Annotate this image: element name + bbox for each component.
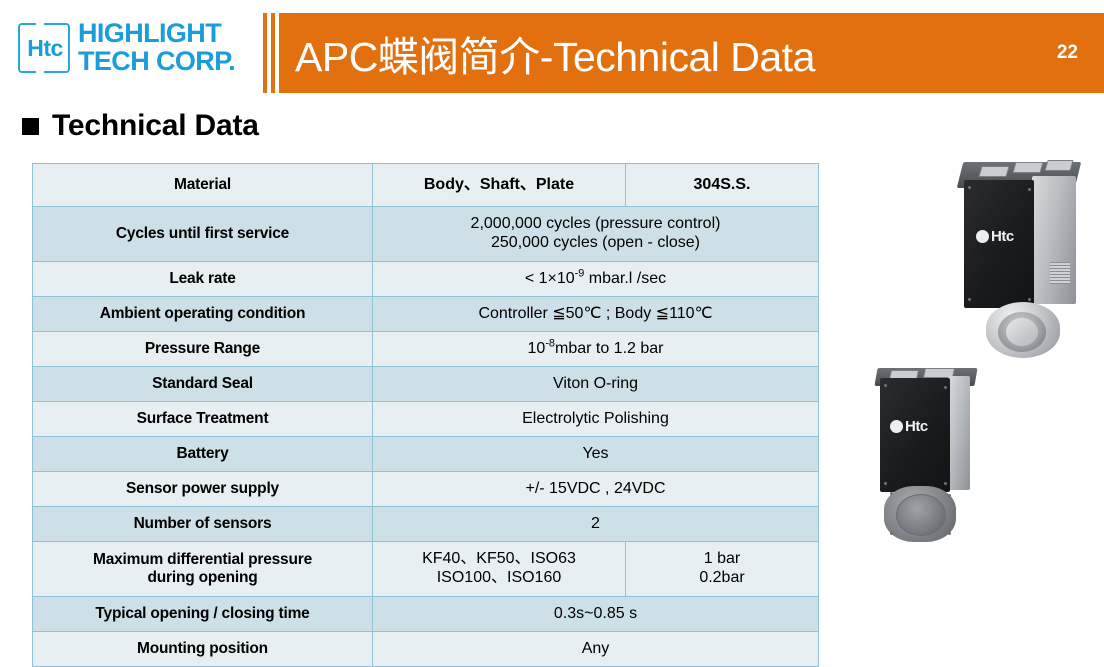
row-label: Leak rate — [33, 262, 373, 297]
row-value-1: KF40、KF50、ISO63 ISO100、ISO160 — [373, 542, 626, 597]
row-value: < 1×10-9 mbar.l /sec — [373, 262, 819, 297]
product-photo-butterfly-valve-kf: Htc — [946, 158, 1096, 368]
row-label: Surface Treatment — [33, 402, 373, 437]
row-value: Controller ≦50℃ ; Body ≦110℃ — [373, 297, 819, 332]
section-heading: Technical Data — [22, 104, 259, 148]
row-value-2-line2: 0.2bar — [630, 569, 814, 588]
square-bullet-icon — [22, 118, 39, 135]
product-badge: Htc — [976, 228, 1014, 245]
row-value-1-line2: ISO100、ISO160 — [377, 569, 621, 588]
row-value: +/- 15VDC , 24VDC — [373, 472, 819, 507]
row-label: Standard Seal — [33, 367, 373, 402]
row-value-1-line1: KF40、KF50、ISO63 — [377, 550, 621, 569]
row-label: Material — [33, 164, 373, 207]
row-value-2: 1 bar 0.2bar — [626, 542, 819, 597]
page-number: 22 — [1057, 42, 1078, 64]
product-photo-butterfly-valve-iso: Htc — [866, 362, 1016, 587]
brand-logo: Htc HIGHLIGHT TECH CORP. — [12, 20, 254, 76]
table-row: Cycles until first service 2,000,000 cyc… — [33, 207, 819, 262]
row-value-2-line1: 1 bar — [630, 550, 814, 569]
section-heading-text: Technical Data — [52, 109, 259, 143]
htc-emblem-icon — [976, 230, 989, 243]
table-row: Typical opening / closing time 0.3s~0.85… — [33, 597, 819, 632]
logo-wordmark-line2: TECH CORP. — [78, 48, 235, 76]
product-badge: Htc — [890, 418, 928, 435]
row-value: Yes — [373, 437, 819, 472]
row-value: Viton O-ring — [373, 367, 819, 402]
product-badge-text: Htc — [905, 418, 928, 435]
row-value: 2 — [373, 507, 819, 542]
row-label-line1: Maximum differential pressure — [37, 551, 368, 569]
table-row: Ambient operating condition Controller ≦… — [33, 297, 819, 332]
table-row: Standard Seal Viton O-ring — [33, 367, 819, 402]
title-bar: APC蝶阀简介-Technical Data 22 — [279, 13, 1104, 93]
table-row: Number of sensors 2 — [33, 507, 819, 542]
row-value: Any — [373, 632, 819, 667]
row-label: Typical opening / closing time — [33, 597, 373, 632]
row-value: 2,000,000 cycles (pressure control) 250,… — [373, 207, 819, 262]
row-value: Electrolytic Polishing — [373, 402, 819, 437]
row-value-2: 304S.S. — [626, 164, 819, 207]
row-value-line2: 250,000 cycles (open - close) — [377, 234, 814, 253]
htc-emblem-icon — [890, 420, 903, 433]
logo-mark-text: Htc — [21, 34, 69, 62]
row-value: 10-8mbar to 1.2 bar — [373, 332, 819, 367]
row-label: Maximum differential pressure during ope… — [33, 542, 373, 597]
table-row: Mounting position Any — [33, 632, 819, 667]
row-label: Sensor power supply — [33, 472, 373, 507]
htc-logo-icon: Htc — [12, 23, 70, 73]
slide-header: Htc HIGHLIGHT TECH CORP. APC蝶阀简介-Technic… — [0, 0, 1104, 100]
row-label: Number of sensors — [33, 507, 373, 542]
table-row: Surface Treatment Electrolytic Polishing — [33, 402, 819, 437]
title-accent-stripes — [263, 13, 279, 93]
technical-data-table: Material Body、Shaft、Plate 304S.S. Cycles… — [32, 163, 819, 667]
table-row: Pressure Range 10-8mbar to 1.2 bar — [33, 332, 819, 367]
logo-wordmark-line1: HIGHLIGHT — [78, 20, 235, 48]
row-label: Mounting position — [33, 632, 373, 667]
product-badge-text: Htc — [991, 228, 1014, 245]
row-label-line2: during opening — [37, 569, 368, 587]
table-row: Material Body、Shaft、Plate 304S.S. — [33, 164, 819, 207]
row-value: 0.3s~0.85 s — [373, 597, 819, 632]
table-row: Battery Yes — [33, 437, 819, 472]
table-row: Maximum differential pressure during ope… — [33, 542, 819, 597]
row-label: Battery — [33, 437, 373, 472]
row-label: Cycles until first service — [33, 207, 373, 262]
logo-wordmark: HIGHLIGHT TECH CORP. — [78, 20, 235, 75]
table-row: Leak rate < 1×10-9 mbar.l /sec — [33, 262, 819, 297]
table-row: Sensor power supply +/- 15VDC , 24VDC — [33, 472, 819, 507]
row-value-line1: 2,000,000 cycles (pressure control) — [377, 215, 814, 234]
row-label: Pressure Range — [33, 332, 373, 367]
slide-title: APC蝶阀简介-Technical Data — [295, 23, 815, 83]
row-value-1: Body、Shaft、Plate — [373, 164, 626, 207]
row-label: Ambient operating condition — [33, 297, 373, 332]
